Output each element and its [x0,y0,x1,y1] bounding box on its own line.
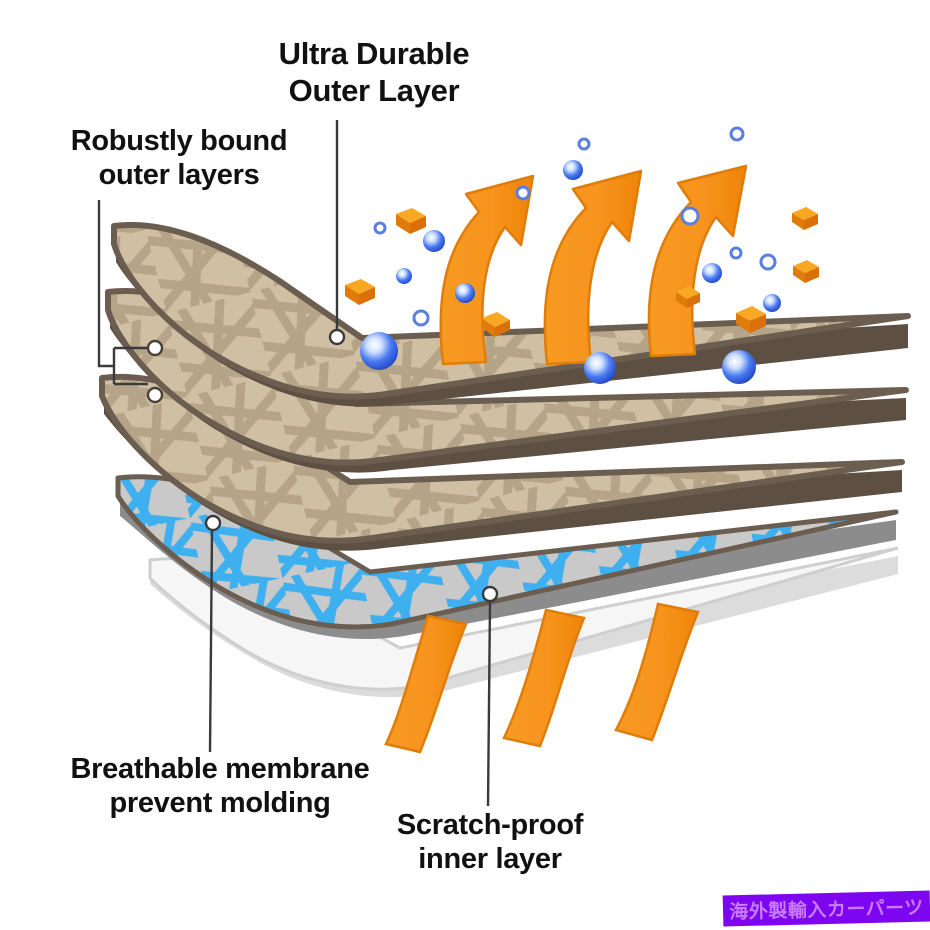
water-bubble [414,311,428,325]
leader-endpoint-breathable [206,516,220,530]
leader-endpoint-robust-1 [148,341,162,355]
water-bubble [517,187,529,199]
leader-endpoint-ultra-durable [330,330,344,344]
water-bubble [375,223,385,233]
dirt-particle [792,207,818,230]
water-bubble [761,255,775,269]
water-bubble [731,128,743,140]
dirt-particle [793,260,819,283]
leader-endpoint-scratch-proof [483,587,497,601]
watermark-text: 海外製輸入カーパーツ [729,893,924,925]
dirt-particle [396,208,426,234]
water-droplet [360,332,398,370]
water-bubble [731,248,741,258]
water-droplet [455,283,475,303]
water-droplet [396,268,412,284]
water-droplet [763,294,781,312]
callout-ultra-durable-outer-layer: Ultra Durable Outer Layer [244,36,504,109]
water-droplet [563,160,583,180]
water-droplet [584,352,616,384]
water-droplet [423,230,445,252]
dirt-particle [345,279,375,305]
callout-breathable-membrane: Breathable membrane prevent molding [20,752,420,820]
water-bubble [682,208,698,224]
water-droplet [702,263,722,283]
water-droplet [722,350,756,384]
callout-scratch-proof-inner-layer: Scratch-proof inner layer [362,808,618,876]
diagram-canvas: Ultra Durable Outer Layer Robustly bound… [0,0,930,930]
watermark-badge: 海外製輸入カーパーツ [723,890,930,926]
callout-robustly-bound-outer-layers: Robustly bound outer layers [34,124,324,192]
water-bubble [579,139,589,149]
leader-endpoint-robust-2 [148,388,162,402]
